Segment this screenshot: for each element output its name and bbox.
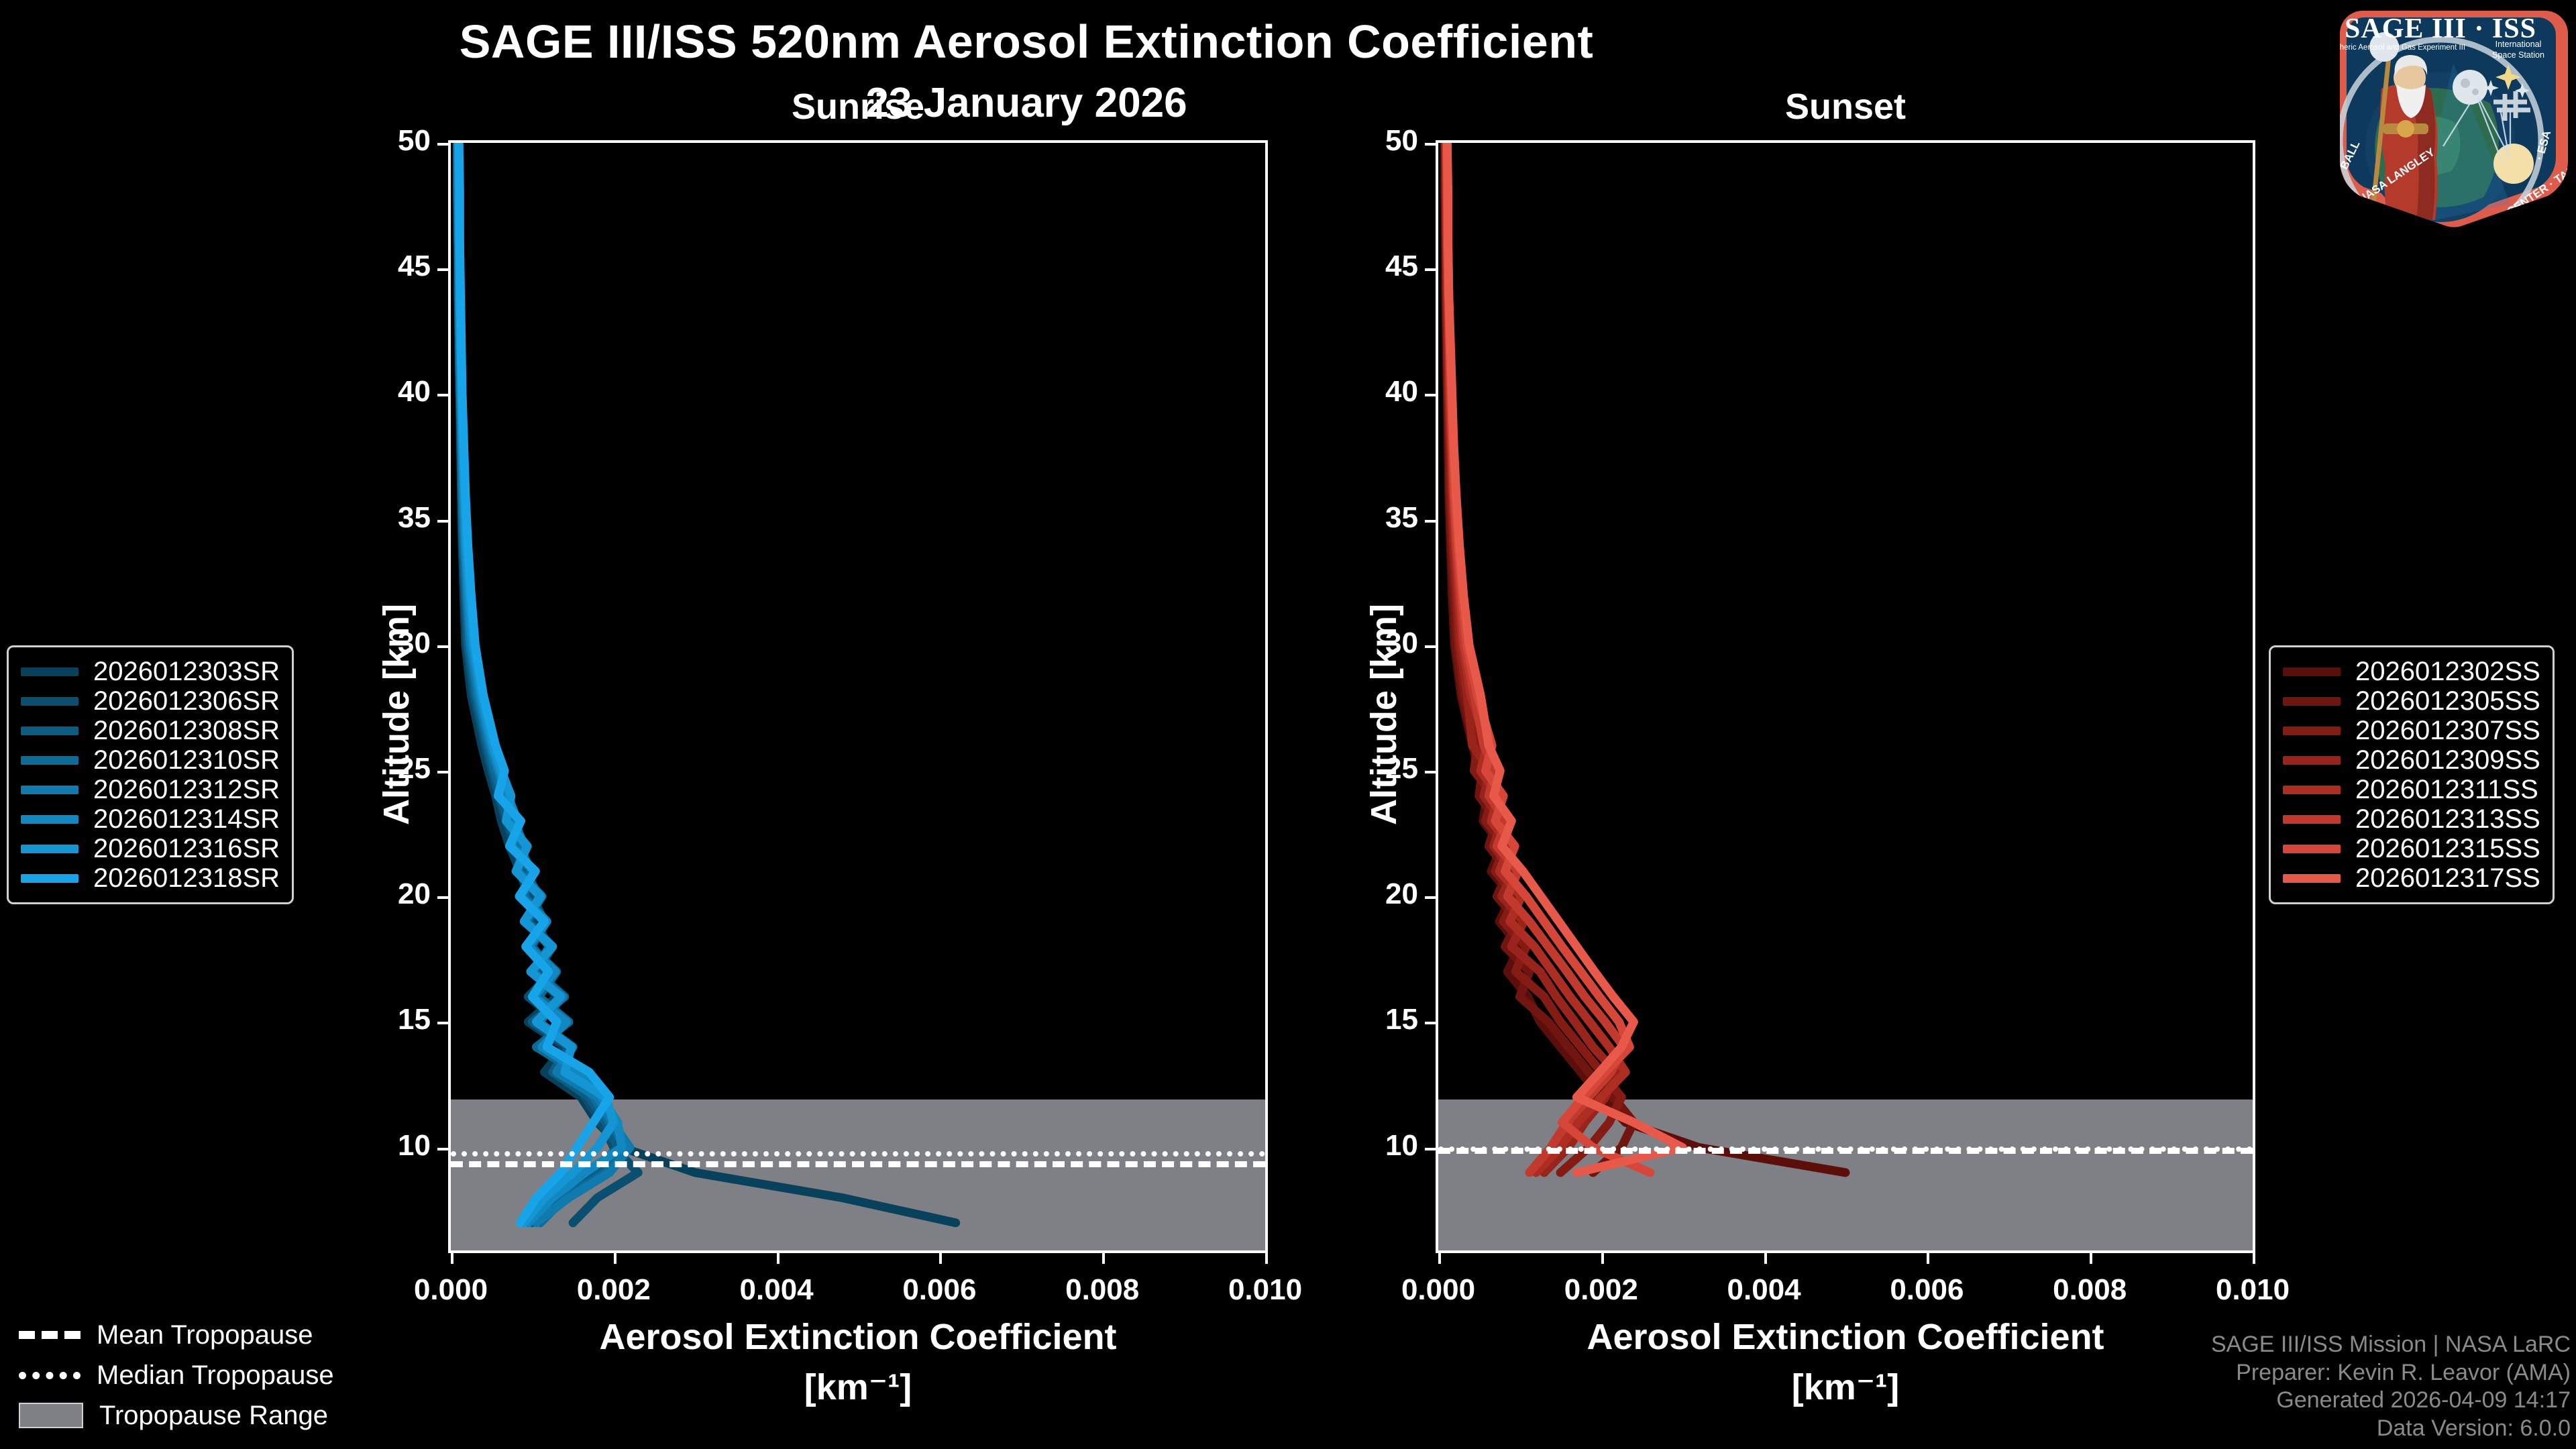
x-axis-tick [451,1250,453,1264]
y-axis-tick-label: 50 [297,124,431,158]
legend-label: 2026012306SR [93,686,280,716]
legend-label-tropopause-range: Tropopause Range [99,1401,328,1431]
x-axis-tick-label: 0.002 [527,1273,701,1307]
legend-label: 2026012312SR [93,775,280,805]
mean-tropopause-line [451,1161,1265,1167]
x-axis-tick-label: 0.000 [1351,1273,1525,1307]
legend-item[interactable]: 2026012306SR [21,686,280,716]
sunrise-xaxis-title: Aerosol Extinction Coefficient [448,1316,1268,1358]
y-axis-tick-label: 10 [1284,1129,1418,1163]
legend-color-swatch [2283,786,2341,794]
x-axis-tick-label: 0.006 [1839,1273,2014,1307]
y-axis-tick [437,1148,451,1150]
legend-label: 2026012310SR [93,745,280,775]
y-axis-tick [437,771,451,773]
x-axis-tick-label: 0.000 [364,1273,538,1307]
legend-item-tropopause-range: Tropopause Range [19,1395,334,1436]
x-axis-tick-label: 0.004 [1677,1273,1851,1307]
y-axis-tick-label: 45 [297,250,431,283]
x-axis-tick [1927,1250,1929,1264]
profile-line [1445,143,1845,1173]
profile-line [1447,143,1682,1173]
sunset-xaxis-units: [km⁻¹] [1436,1366,2255,1408]
legend-item[interactable]: 2026012302SS [2283,657,2540,686]
legend-label: 2026012302SS [2355,657,2540,687]
y-axis-tick [437,394,451,396]
legend-label: 2026012318SR [93,863,280,894]
y-axis-tick [1425,896,1438,899]
y-axis-tick-label: 50 [1284,124,1418,158]
x-axis-tick-label: 0.006 [852,1273,1026,1307]
x-axis-tick [2253,1250,2255,1264]
legend-color-swatch [21,815,78,824]
legend-color-swatch [21,697,78,706]
legend-label: 2026012309SS [2355,745,2540,775]
svg-text:Space Station: Space Station [2492,50,2544,60]
y-axis-tick [1425,1022,1438,1024]
legend-color-swatch [21,874,78,883]
legend-item[interactable]: 2026012318SR [21,863,280,893]
profile-curves [451,143,1265,1250]
legend-label: 2026012313SS [2355,804,2540,835]
sunset-panel-title: Sunset [1436,86,2255,127]
filled-box-icon [19,1403,83,1428]
y-axis-tick [437,896,451,899]
y-axis-tick-label: 35 [297,501,431,535]
legend-item[interactable]: 2026012316SR [21,834,280,863]
sunset-legend[interactable]: 2026012302SS2026012305SS2026012307SS2026… [2269,645,2555,904]
x-axis-tick-label: 0.008 [2002,1273,2177,1307]
y-axis-tick-label: 15 [297,1003,431,1036]
dashed-line-icon [19,1331,80,1339]
legend-color-swatch [2283,815,2341,824]
credits-line-generated: Generated 2026-04-09 14:17 [2211,1387,2571,1414]
y-axis-tick [437,143,451,146]
dotted-line-icon [19,1372,80,1379]
sunrise-plot-axes: 1015202530354045500.0000.0020.0040.0060.… [448,140,1268,1253]
legend-item[interactable]: 2026012313SS [2283,804,2540,834]
legend-color-swatch [2283,727,2341,735]
svg-text:RESEARCH: RESEARCH [2457,229,2522,231]
legend-item-mean-tropopause: Mean Tropopause [19,1315,334,1355]
legend-item[interactable]: 2026012310SR [21,745,280,775]
legend-label-median-tropopause: Median Tropopause [97,1360,334,1391]
sunrise-yaxis-title: Altitude [km] [376,604,417,825]
legend-color-swatch [21,786,78,794]
legend-label-mean-tropopause: Mean Tropopause [97,1320,313,1350]
legend-item[interactable]: 2026012317SS [2283,863,2540,893]
y-axis-tick [1425,1148,1438,1150]
y-axis-tick-label: 20 [1284,877,1418,911]
y-axis-tick [1425,520,1438,523]
sunrise-plot-area [451,143,1265,1250]
sage3-iss-mission-patch-logo: SAGE III · ISS Stratospheric Aerosol and… [2309,3,2572,231]
legend-label: 2026012311SS [2355,775,2538,805]
credits-line-preparer: Preparer: Kevin R. Leavor (AMA) [2211,1359,2571,1387]
x-axis-tick [1601,1250,1604,1264]
sunset-xaxis-title: Aerosol Extinction Coefficient [1436,1316,2255,1358]
y-axis-tick [437,1022,451,1024]
credits-line-mission: SAGE III/ISS Mission | NASA LaRC [2211,1331,2571,1358]
y-axis-tick [1425,394,1438,396]
x-axis-tick-label: 0.002 [1514,1273,1688,1307]
y-axis-tick-label: 45 [1284,250,1418,283]
legend-label: 2026012307SS [2355,716,2540,746]
legend-label: 2026012303SR [93,657,280,687]
legend-color-swatch [2283,697,2341,706]
y-axis-tick [1425,268,1438,271]
x-axis-tick [614,1250,616,1264]
y-axis-tick [437,645,451,648]
y-axis-tick [1425,645,1438,648]
x-axis-tick [1102,1250,1105,1264]
profile-line [459,143,610,1223]
mean-tropopause-line [1438,1148,2253,1154]
median-tropopause-line [451,1151,1265,1157]
legend-item[interactable]: 2026012314SR [21,804,280,834]
credits-line-version: Data Version: 6.0.0 [2211,1415,2571,1442]
y-axis-tick-label: 35 [1284,501,1418,535]
legend-item[interactable]: 2026012305SS [2283,686,2540,716]
sunset-plot-axes: 1015202530354045500.0000.0020.0040.0060.… [1436,140,2255,1253]
legend-color-swatch [21,727,78,735]
sunset-yaxis-title: Altitude [km] [1363,604,1405,825]
y-axis-tick-label: 15 [1284,1003,1418,1036]
legend-label: 2026012308SR [93,716,280,746]
y-axis-tick [437,520,451,523]
legend-color-swatch [2283,667,2341,676]
y-axis-tick-label: 40 [297,375,431,409]
y-axis-tick-label: 20 [297,877,431,911]
tropopause-legend: Mean Tropopause Median Tropopause Tropop… [19,1315,334,1436]
legend-label: 2026012316SR [93,834,280,864]
legend-label: 2026012305SS [2355,686,2540,716]
profile-line [458,143,956,1223]
y-axis-tick-label: 40 [1284,375,1418,409]
legend-item[interactable]: 2026012303SR [21,657,280,686]
legend-item[interactable]: 2026012309SS [2283,745,2540,775]
y-axis-tick [437,268,451,271]
x-axis-tick [1764,1250,1767,1264]
legend-color-swatch [2283,874,2341,883]
y-axis-tick-label: 10 [297,1129,431,1163]
x-axis-tick-label: 0.010 [2165,1273,2340,1307]
svg-text:Stratospheric Aerosol and Gas: Stratospheric Aerosol and Gas Experiment… [2311,44,2465,52]
legend-item-median-tropopause: Median Tropopause [19,1355,334,1395]
sunrise-xaxis-units: [km⁻¹] [448,1366,1268,1408]
legend-item[interactable]: 2026012312SR [21,775,280,804]
legend-color-swatch [2283,845,2341,853]
legend-item[interactable]: 2026012307SS [2283,716,2540,745]
sunset-plot-area [1438,143,2253,1250]
sunrise-panel-title: Sunrise [448,86,1268,127]
x-axis-tick-label: 0.004 [690,1273,864,1307]
legend-label: 2026012315SS [2355,834,2540,864]
x-axis-tick [1265,1250,1268,1264]
y-axis-tick [1425,143,1438,146]
legend-label: 2026012314SR [93,804,280,835]
x-axis-tick-label: 0.008 [1015,1273,1189,1307]
legend-item[interactable]: 2026012308SR [21,716,280,745]
y-axis-tick [1425,771,1438,773]
sunrise-legend[interactable]: 2026012303SR2026012306SR2026012308SR2026… [7,645,294,904]
legend-color-swatch [21,845,78,853]
profile-curves [1438,143,2253,1250]
legend-item[interactable]: 2026012311SS [2283,775,2540,804]
page-title: SAGE III/ISS 520nm Aerosol Extinction Co… [0,15,2053,68]
x-axis-tick [1438,1250,1441,1264]
legend-color-swatch [21,756,78,765]
legend-item[interactable]: 2026012315SS [2283,834,2540,863]
x-axis-tick [777,1250,780,1264]
x-axis-tick-label: 0.010 [1178,1273,1352,1307]
credits-block: SAGE III/ISS Mission | NASA LaRC Prepare… [2211,1331,2571,1442]
legend-color-swatch [21,667,78,676]
x-axis-tick [939,1250,942,1264]
legend-color-swatch [2283,756,2341,765]
svg-text:International: International [2495,40,2542,49]
legend-label: 2026012317SS [2355,863,2540,894]
x-axis-tick [2090,1250,2092,1264]
